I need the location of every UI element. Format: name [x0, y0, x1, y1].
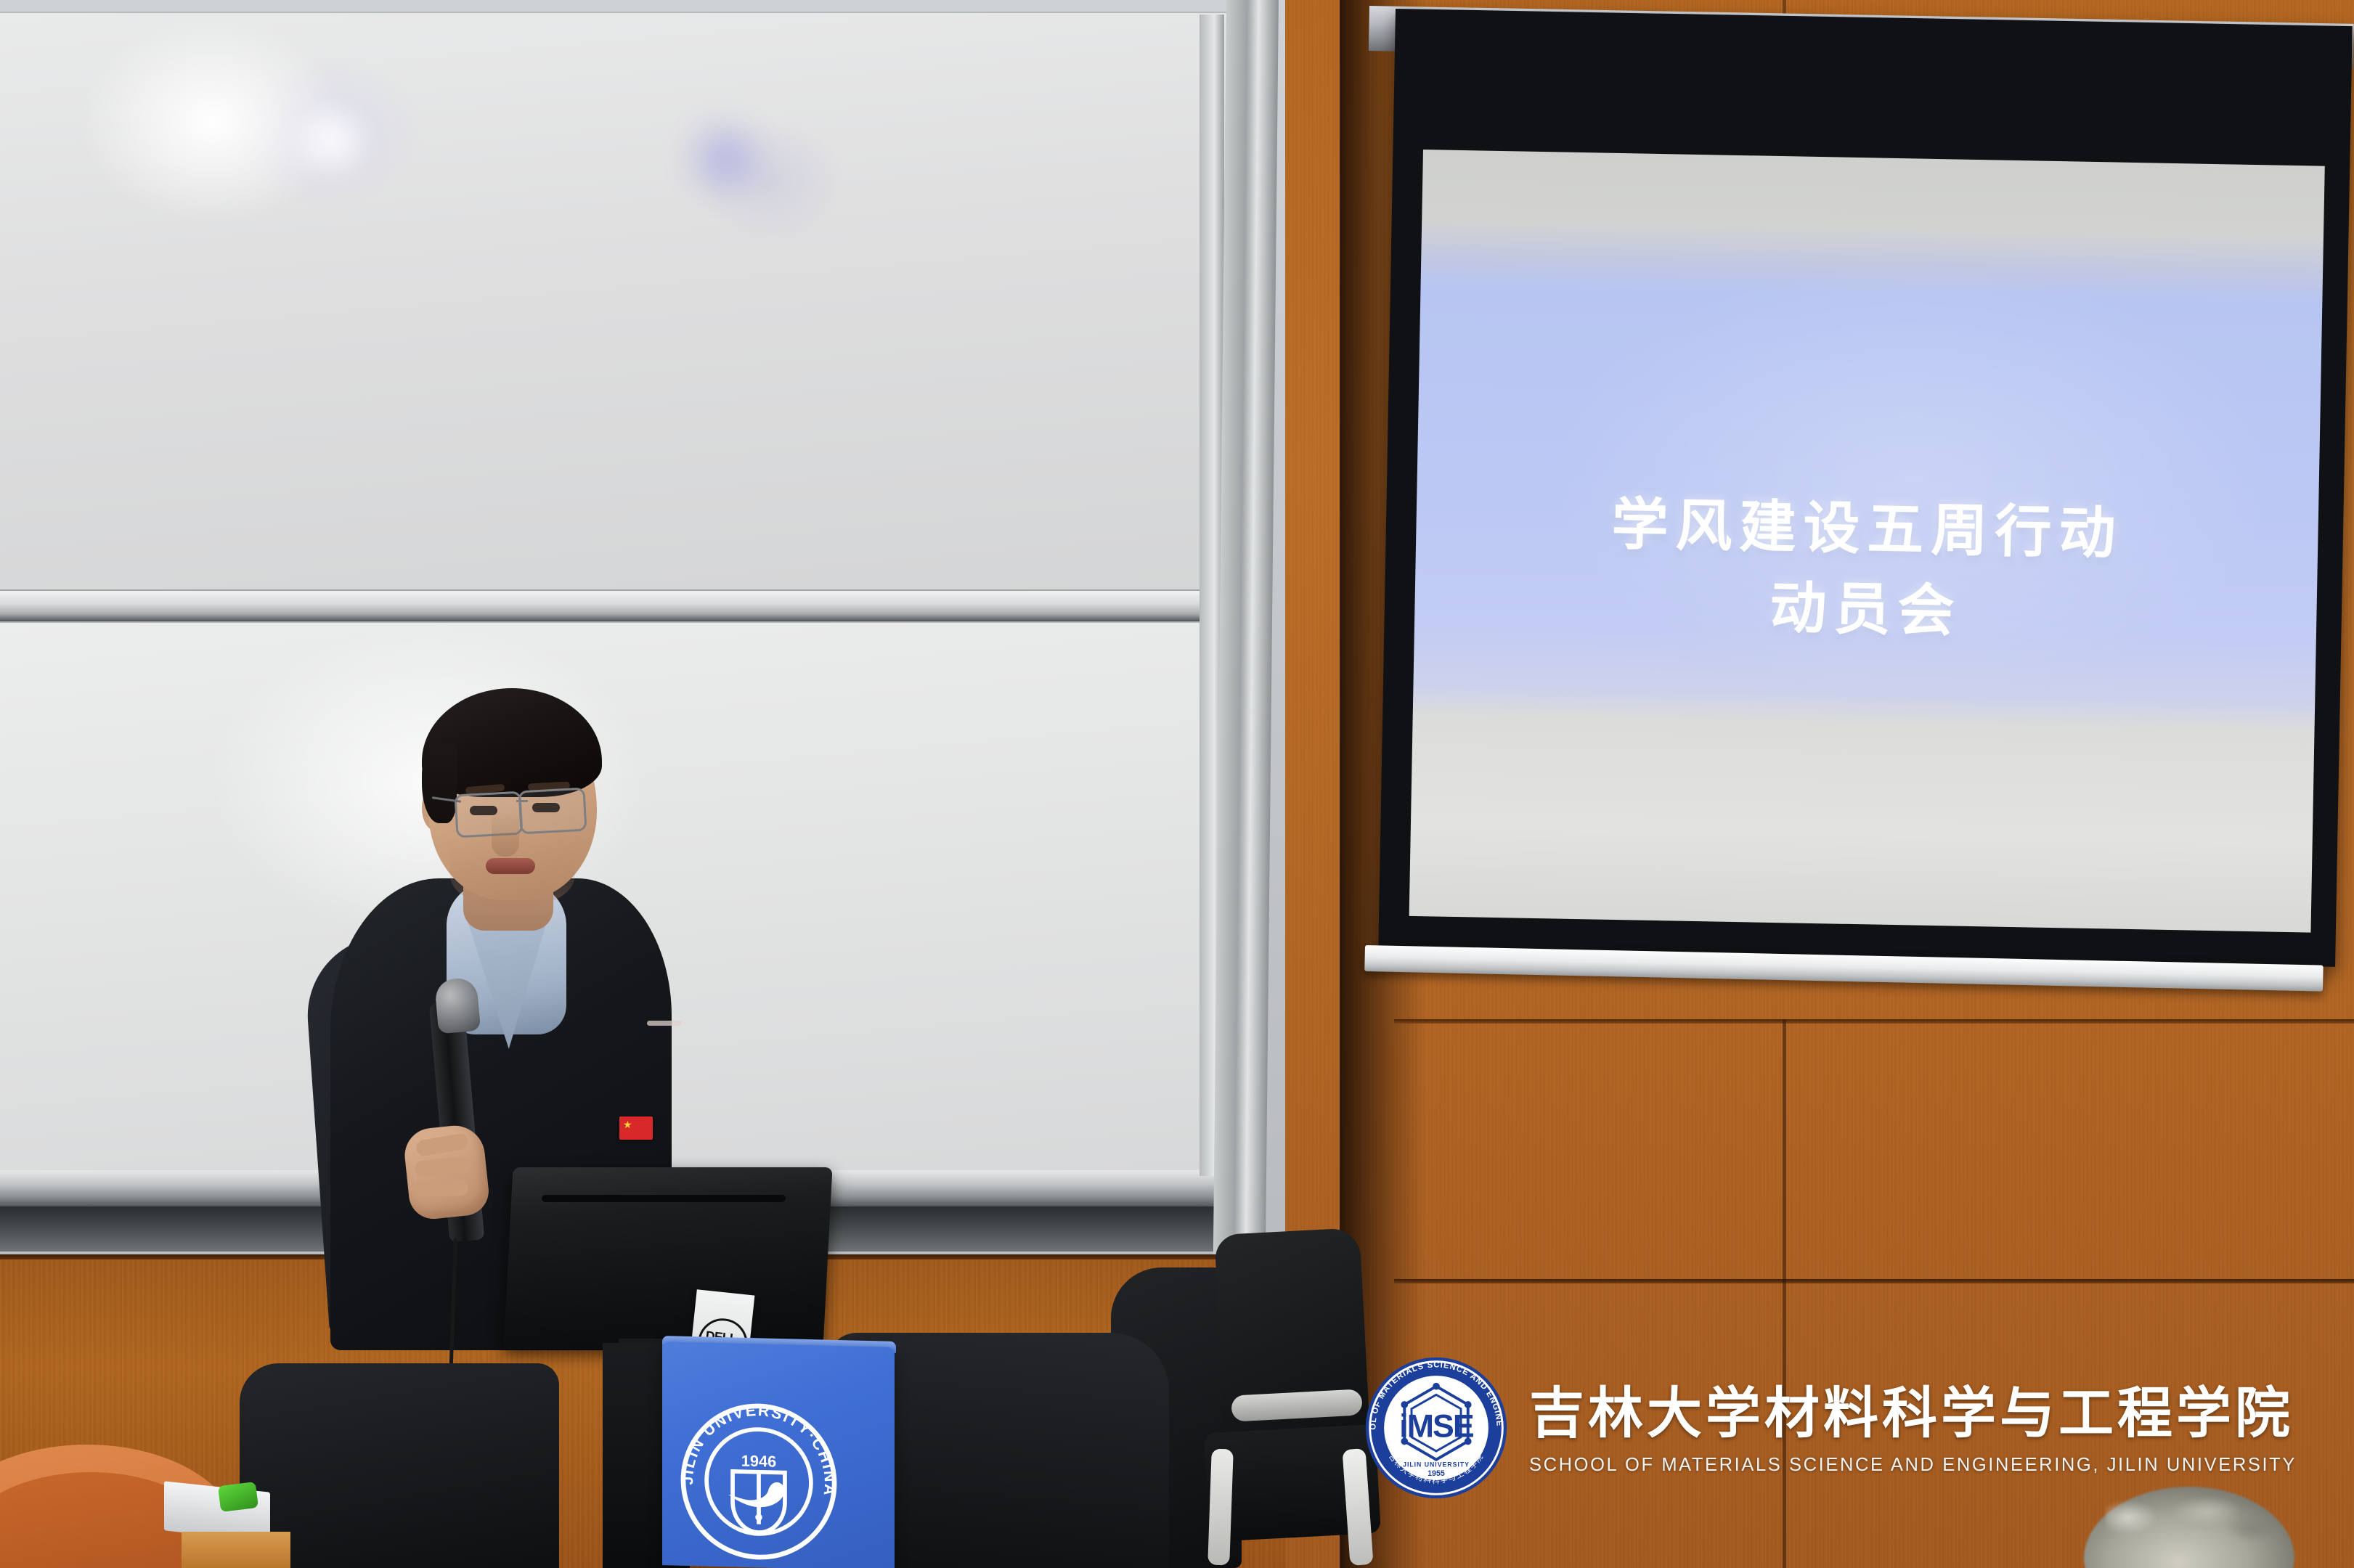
svg-text:1955: 1955 [1428, 1469, 1445, 1478]
watermark-text-block: 吉林大学材料科学与工程学院 SCHOOL OF MATERIALS SCIENC… [1529, 1380, 2350, 1476]
whiteboard-projector-spill [669, 115, 778, 202]
whiteboard-upper-panel[interactable] [0, 12, 1250, 592]
speaker-finger [415, 1180, 469, 1198]
svg-text:1946: 1946 [741, 1452, 776, 1471]
chinese-flag-pin-icon: ★ [619, 1116, 653, 1140]
school-name-chinese: 吉林大学材料科学与工程学院 [1529, 1384, 2350, 1443]
svg-text:iMSE: iMSE [1399, 1409, 1474, 1445]
wall-panel-seam [1394, 1019, 2354, 1024]
photo-scene: 学风建设五周行动 动员会 ★ [0, 0, 2354, 1568]
slide-text-block: 学风建设五周行动 动员会 [1409, 150, 2325, 933]
speaker-mouth [486, 858, 535, 874]
glasses-bridge [516, 800, 528, 802]
svg-text:JILIN UNIVERSITY: JILIN UNIVERSITY [1403, 1461, 1470, 1468]
whiteboard-light-reflection [285, 100, 379, 180]
glasses-lens-right [518, 788, 587, 835]
school-watermark-lockup: SCHOOL OF MATERIALS SCIENCE AND ENGINEER… [1362, 1344, 2350, 1511]
slide-title-line-2: 动员会 [1769, 568, 1962, 653]
jilin-university-seal-icon: JILIN UNIVERSITY·CHINA 1946 [669, 1390, 848, 1568]
monitor-vent-slot [542, 1195, 786, 1202]
speaker-sideburn [422, 743, 457, 823]
flag-star-icon: ★ [623, 1119, 632, 1130]
imse-seal-icon: SCHOOL OF MATERIALS SCIENCE AND ENGINEER… [1362, 1354, 1510, 1502]
speaker-teeth [647, 1021, 682, 1026]
chair-leg [1207, 1449, 1234, 1566]
school-name-english: SCHOOL OF MATERIALS SCIENCE AND ENGINEER… [1529, 1455, 2350, 1476]
green-phone[interactable] [218, 1482, 258, 1512]
wall-panel-seam [1394, 1279, 2354, 1283]
lectern-podium[interactable]: JILIN UNIVERSITY·CHINA 1946 [646, 1328, 951, 1568]
speaker-nose [492, 812, 519, 857]
desk-wood-edge [182, 1532, 290, 1568]
whiteboard-middle-rail [0, 589, 1250, 623]
slide-title-line-1: 学风建设五周行动 [1611, 485, 2124, 575]
